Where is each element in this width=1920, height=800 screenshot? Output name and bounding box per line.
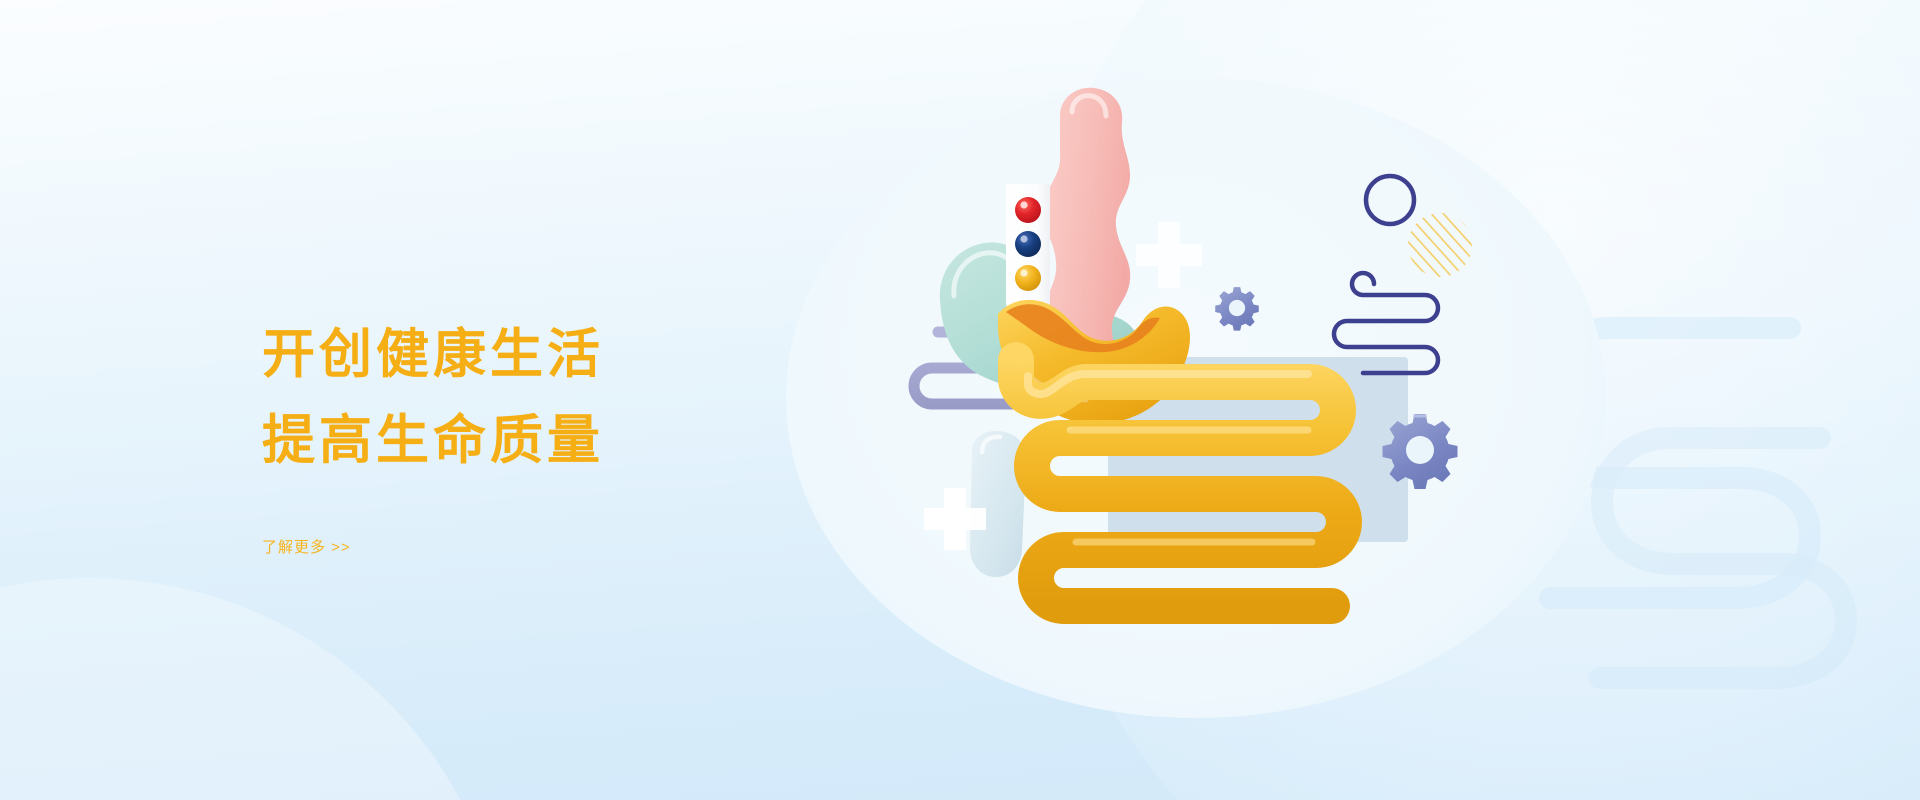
digestive-system-illustration (880, 60, 1580, 760)
hero-copy: 开创健康生活 提高生命质量 了解更多 >> (262, 312, 882, 557)
page-title: 开创健康生活 提高生命质量 (262, 312, 882, 484)
vial-dot-navy (1015, 231, 1041, 257)
gear-small-icon (1215, 287, 1259, 331)
health-hero-banner: 开创健康生活 提高生命质量 了解更多 >> (0, 0, 1920, 800)
headline-line-1: 开创健康生活 (262, 325, 604, 384)
learn-more-link[interactable]: 了解更多 >> (262, 536, 351, 557)
vial-dot-gold (1015, 265, 1041, 291)
ring-outline-icon (1366, 176, 1414, 224)
cross-white-top-icon (1136, 222, 1202, 288)
background-circle-bottom-left (0, 578, 510, 800)
hatched-circle-icon (1408, 213, 1472, 277)
headline-line-2: 提高生命质量 (262, 398, 882, 484)
vial-dot-red (1015, 197, 1041, 223)
intestine-organ (1016, 360, 1344, 606)
